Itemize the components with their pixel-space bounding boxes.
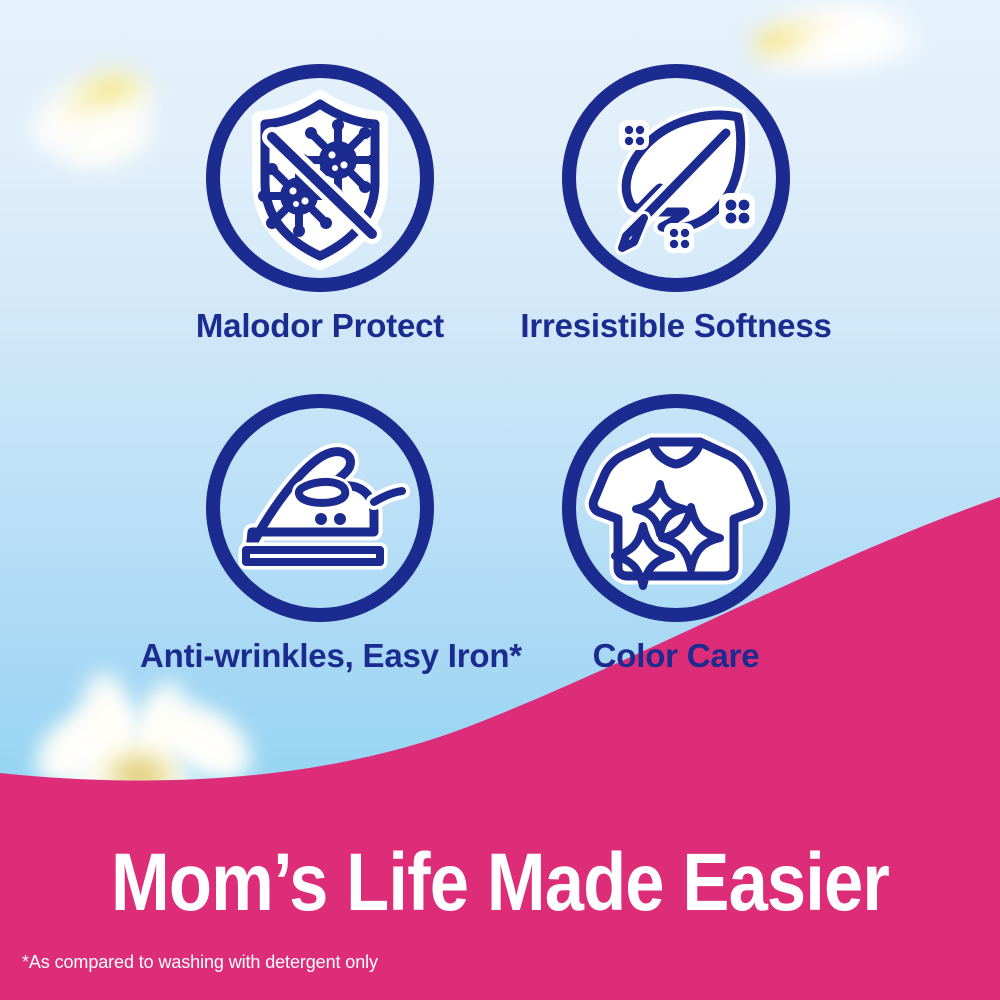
- feature-label: Malodor Protect: [140, 308, 500, 344]
- feature-label: Anti-wrinkles, Easy Iron*: [140, 638, 500, 674]
- infographic-canvas: Malodor Protect: [0, 0, 1000, 1000]
- feature-color-care[interactable]: Color Care: [496, 392, 856, 674]
- page-headline: Mom’s Life Made Easier: [70, 842, 930, 924]
- feature-label: Irresistible Softness: [496, 308, 856, 344]
- icon-circle: [204, 392, 436, 624]
- icon-circle: [204, 62, 436, 294]
- shield-germ-blocked-icon: [204, 62, 436, 294]
- icon-circle: [560, 62, 792, 294]
- icon-circle: [560, 392, 792, 624]
- tshirt-sparkle-icon: [560, 392, 792, 624]
- feature-label: Color Care: [496, 638, 856, 674]
- feather-sparkle-icon: [560, 62, 792, 294]
- feature-malodor-protect[interactable]: Malodor Protect: [140, 62, 500, 344]
- clothes-iron-icon: [204, 392, 436, 624]
- feature-anti-wrinkles-easy-iron[interactable]: Anti-wrinkles, Easy Iron*: [140, 392, 500, 674]
- feature-irresistible-softness[interactable]: Irresistible Softness: [496, 62, 856, 344]
- footnote-disclaimer: *As compared to washing with detergent o…: [22, 952, 378, 973]
